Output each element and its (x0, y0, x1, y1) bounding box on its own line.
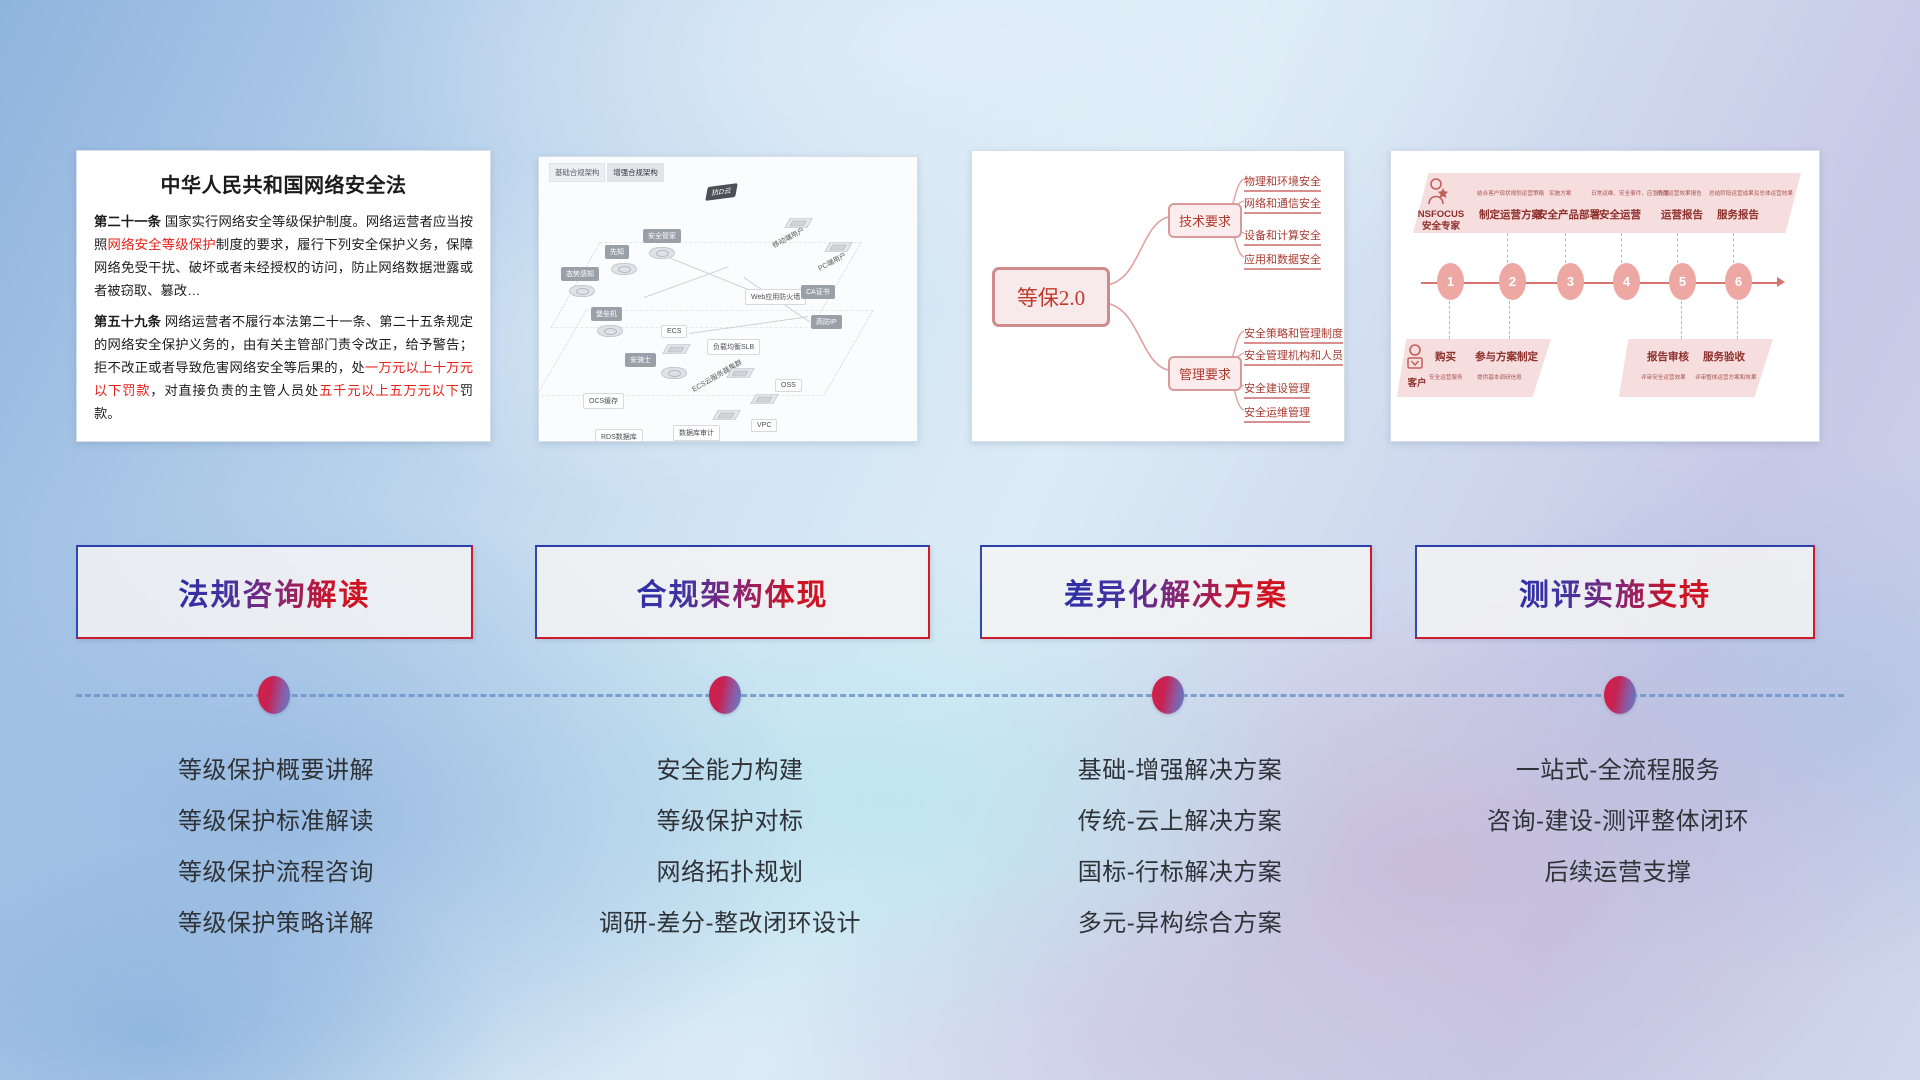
node-anti-ddos-label: 抗D云 (705, 183, 738, 201)
bullet-item: 等级保护对标 (520, 796, 940, 847)
customer-person-icon (1405, 343, 1427, 373)
mindmap-diagram: 等保2.0 技术要求 物理和环境安全 网络和通信安全 设备和计算安全 应用和数据… (972, 151, 1344, 441)
bullet-column-1: 等级保护概要讲解 等级保护标准解读 等级保护流程咨询 等级保护策略详解 (76, 745, 476, 949)
timeline-step-4-label: 安全运营 (1599, 207, 1641, 222)
timeline-connector (1681, 301, 1683, 339)
node-icon-cube (751, 389, 777, 411)
dashed-timeline-line (76, 694, 1844, 699)
expert-role-line1: NSFOCUS (1418, 209, 1464, 220)
timeline-marker-4[interactable] (1604, 676, 1636, 714)
bullet-item: 网络拓扑规划 (520, 847, 940, 898)
bullet-column-3: 基础-增强解决方案 传统-云上解决方案 国标-行标解决方案 多元-异构综合方案 (975, 745, 1385, 949)
bottom-step-report-review-sub: 评审安全运营效果 (1641, 373, 1686, 381)
timeline-step-3-sub: 实施方案 (1549, 189, 1571, 197)
timeline-step-4[interactable]: 4 (1613, 263, 1640, 300)
node-rds-database-label: RDS数据库 (595, 429, 643, 442)
node-ecs-label: ECS (661, 325, 687, 338)
node-anqishi: 安骑士 (625, 353, 656, 367)
slide-stage: 中华人民共和国网络安全法 第二十一条 国家实行网络安全等级保护制度。网络运营者应… (0, 0, 1920, 1080)
node-vpc-label: VPC (751, 419, 777, 432)
bullet-item: 调研-差分-整改闭环设计 (520, 898, 940, 949)
law-title: 中华人民共和国网络安全法 (94, 169, 473, 198)
card-cybersecurity-law[interactable]: 中华人民共和国网络安全法 第二十一条 国家实行网络安全等级保护制度。网络运营者应… (76, 150, 491, 442)
node-high-defense-ip-label: 高防IP (811, 315, 842, 329)
heading-box-row: 法规咨询解读 合规架构体现 差异化解决方案 测评实施支持 (0, 545, 1920, 645)
architecture-tabs: 基础合规架构 增强合规架构 (549, 163, 664, 182)
timeline-connector (1737, 301, 1739, 339)
bottom-step-report-review-label: 报告审核 (1647, 349, 1689, 364)
node-security-butler: 安全管家 (643, 229, 681, 243)
mindmap-root-node[interactable]: 等保2.0 (992, 267, 1110, 327)
article-59-label: 第五十九条 (94, 314, 161, 329)
bullet-column-4: 一站式-全流程服务 咨询-建设-测评整体闭环 后续运营支撑 (1418, 745, 1818, 898)
node-icon-cube (825, 237, 851, 259)
node-waf: Web应用防火墙 (745, 289, 806, 305)
card-mindmap-dengbao[interactable]: 等保2.0 技术要求 物理和环境安全 网络和通信安全 设备和计算安全 应用和数据… (971, 150, 1345, 442)
node-icon-cube (713, 405, 739, 427)
nsfocus-timeline-diagram: NSFOCUS 安全专家 客户 1 2 3 4 5 6 (1391, 151, 1819, 441)
bullet-item: 后续运营支撑 (1418, 847, 1818, 898)
node-xianzhi: 先知 (605, 245, 629, 259)
timeline-step-5[interactable]: 5 (1669, 263, 1696, 300)
timeline-connector (1621, 233, 1623, 263)
node-icon-disk (611, 259, 635, 275)
thumbnail-card-row: 中华人民共和国网络安全法 第二十一条 国家实行网络安全等级保护制度。网络运营者应… (0, 150, 1920, 440)
bottom-step-acceptance-sub: 评审整体运营方案和效果 (1695, 373, 1757, 381)
mindmap-leaf-org-personnel: 安全管理机构和人员 (1244, 347, 1343, 366)
timeline-step-6[interactable]: 6 (1725, 263, 1752, 300)
bullet-item: 国标-行标解决方案 (975, 847, 1385, 898)
bullet-item: 等级保护流程咨询 (76, 847, 476, 898)
timeline-connector (1449, 301, 1451, 339)
law-article-21: 第二十一条 国家实行网络安全等级保护制度。网络运营者应当按照网络安全等级保护制度… (94, 211, 473, 302)
heading-box-compliance-architecture[interactable]: 合规架构体现 (535, 545, 930, 639)
heading-label-2: 合规架构体现 (637, 570, 829, 614)
bullet-column-2: 安全能力构建 等级保护对标 网络拓扑规划 调研-差分-整改闭环设计 (520, 745, 940, 949)
timeline-step-3[interactable]: 3 (1557, 263, 1584, 300)
timeline-step-2-label: 制定运营方案 (1479, 207, 1542, 222)
node-icon-cube (663, 339, 689, 361)
node-icon-disk (569, 281, 593, 297)
timeline-step-5-sub: 阶段运营效果报告 (1657, 189, 1702, 197)
bottom-step-purchase-label: 购买 (1435, 349, 1456, 364)
bullet-item: 传统-云上解决方案 (975, 796, 1385, 847)
tab-enhanced-architecture[interactable]: 增强合规架构 (607, 163, 663, 182)
timeline-step-1[interactable]: 1 (1437, 263, 1464, 300)
bullet-item: 一站式-全流程服务 (1418, 745, 1818, 796)
node-slb: 负载均衡SLB (707, 339, 760, 355)
bullet-column-row: 等级保护概要讲解 等级保护标准解读 等级保护流程咨询 等级保护策略详解 安全能力… (0, 745, 1920, 995)
node-anti-ddos: 抗D云 (707, 185, 736, 199)
bullet-item: 安全能力构建 (520, 745, 940, 796)
bullet-item: 等级保护概要讲解 (76, 745, 476, 796)
node-ecs: ECS (661, 325, 687, 338)
node-security-butler-label: 安全管家 (643, 229, 681, 243)
node-ocs-cache-label: OCS缓存 (583, 393, 624, 409)
timeline-connector (1565, 233, 1567, 263)
node-high-defense-ip: 高防IP (811, 315, 842, 329)
node-icon-disk (661, 363, 685, 379)
node-bastion-host: 堡垒机 (591, 307, 622, 321)
bottom-step-purchase-sub: 安全运营服务 (1429, 373, 1463, 381)
node-anqishi-label: 安骑士 (625, 353, 656, 367)
bullet-item: 多元-异构综合方案 (975, 898, 1385, 949)
heading-box-regulation-consulting[interactable]: 法规咨询解读 (76, 545, 473, 639)
timeline-step-2[interactable]: 2 (1499, 263, 1526, 300)
timeline-step-6-sub: 总结阶段运营成果及总体运营效果 (1709, 189, 1793, 197)
heading-box-differentiated-solution[interactable]: 差异化解决方案 (980, 545, 1372, 639)
expert-role-line2: 安全专家 (1422, 221, 1460, 232)
heading-label-1: 法规咨询解读 (179, 570, 371, 614)
node-situational-awareness: 态势感知 (561, 267, 599, 281)
bullet-item: 基础-增强解决方案 (975, 745, 1385, 796)
card-cloud-architecture[interactable]: 基础合规架构 增强合规架构 抗D云 安全管家 先知 态势感知 堡垒机 ECS (538, 156, 918, 442)
bottom-step-participate-label: 参与方案制定 (1475, 349, 1538, 364)
heading-label-4: 测评实施支持 (1519, 570, 1711, 614)
timeline-step-6-label: 服务报告 (1717, 207, 1759, 222)
customer-role-label: 客户 (1403, 375, 1431, 389)
timeline-connector (1509, 301, 1511, 339)
article-59-highlight-2: 五千元以上五万元以下 (319, 383, 460, 398)
bullet-item: 等级保护策略详解 (76, 898, 476, 949)
bottom-step-acceptance-label: 服务验收 (1703, 349, 1745, 364)
architecture-diagram: 基础合规架构 增强合规架构 抗D云 安全管家 先知 态势感知 堡垒机 ECS (539, 157, 917, 441)
timeline-band-top (1413, 173, 1801, 233)
node-ca-certificate: CA证书 (801, 285, 835, 299)
node-db-audit: 数据库审计 (673, 425, 720, 441)
node-xianzhi-label: 先知 (605, 245, 629, 259)
timeline-arrow-icon (1777, 277, 1785, 287)
node-vpc: VPC (751, 419, 777, 432)
node-waf-label: Web应用防火墙 (745, 289, 806, 305)
tab-basic-architecture[interactable]: 基础合规架构 (549, 163, 605, 182)
timeline-step-3-label: 安全产品部署 (1537, 207, 1600, 222)
node-situational-awareness-label: 态势感知 (561, 267, 599, 281)
mindmap-leaf-ops-mgmt: 安全运维管理 (1244, 404, 1310, 423)
article-59-text-b: ，对直接负责的主管人员处 (150, 383, 319, 398)
timeline-marker-2[interactable] (709, 676, 741, 714)
card-nsfocus-service-timeline[interactable]: NSFOCUS 安全专家 客户 1 2 3 4 5 6 (1390, 150, 1820, 442)
mindmap-leaf-construction-mgmt: 安全建设管理 (1244, 380, 1310, 399)
mindmap-leaf-network-comm: 网络和通信安全 (1244, 195, 1321, 214)
node-oss-label: OSS (775, 379, 802, 392)
node-slb-label: 负载均衡SLB (707, 339, 760, 355)
law-text-body: 中华人民共和国网络安全法 第二十一条 国家实行网络安全等级保护制度。网络运营者应… (77, 151, 490, 441)
mindmap-leaf-device-compute: 设备和计算安全 (1244, 227, 1321, 246)
node-icon-cube (727, 363, 753, 385)
mindmap-leaf-physical-env: 物理和环境安全 (1244, 173, 1321, 192)
node-ocs-cache: OCS缓存 (583, 393, 624, 409)
timeline-marker-3[interactable] (1152, 676, 1184, 714)
timeline-connector (1677, 233, 1679, 263)
timeline-connector (1733, 233, 1735, 263)
bottom-step-participate-sub: 提供基本调研信息 (1477, 373, 1522, 381)
timeline-step-5-label: 运营报告 (1661, 207, 1703, 222)
law-article-59: 第五十九条 网络运营者不履行本法第二十一条、第二十五条规定的网络安全保护义务的，… (94, 311, 473, 425)
bullet-item: 咨询-建设-测评整体闭环 (1418, 796, 1818, 847)
timeline-marker-1[interactable] (258, 676, 290, 714)
node-icon-cube (785, 213, 811, 235)
expert-person-icon (1427, 177, 1449, 207)
node-icon-disk (597, 321, 621, 337)
heading-box-evaluation-support[interactable]: 测评实施支持 (1415, 545, 1815, 639)
timeline-step-2-sub: 结合客户现状规划运营策略 (1477, 189, 1544, 197)
mindmap-leaf-policy-system: 安全策略和管理制度 (1244, 325, 1343, 344)
node-db-audit-label: 数据库审计 (673, 425, 720, 441)
node-icon-disk (649, 243, 673, 259)
timeline-connector (1507, 233, 1509, 263)
mindmap-branch-management[interactable]: 管理要求 (1168, 356, 1242, 391)
node-rds-database: RDS数据库 (595, 429, 643, 442)
node-ca-certificate-label: CA证书 (801, 285, 835, 299)
heading-label-3: 差异化解决方案 (1064, 570, 1288, 614)
timeline-band-bottom-right (1619, 339, 1773, 397)
mindmap-branch-technical[interactable]: 技术要求 (1168, 203, 1242, 238)
article-21-label: 第二十一条 (94, 214, 161, 229)
node-oss: OSS (775, 379, 802, 392)
mindmap-leaf-app-data: 应用和数据安全 (1244, 251, 1321, 270)
node-bastion-host-label: 堡垒机 (591, 307, 622, 321)
article-21-highlight: 网络安全等级保护 (108, 237, 216, 252)
bullet-item: 等级保护标准解读 (76, 796, 476, 847)
